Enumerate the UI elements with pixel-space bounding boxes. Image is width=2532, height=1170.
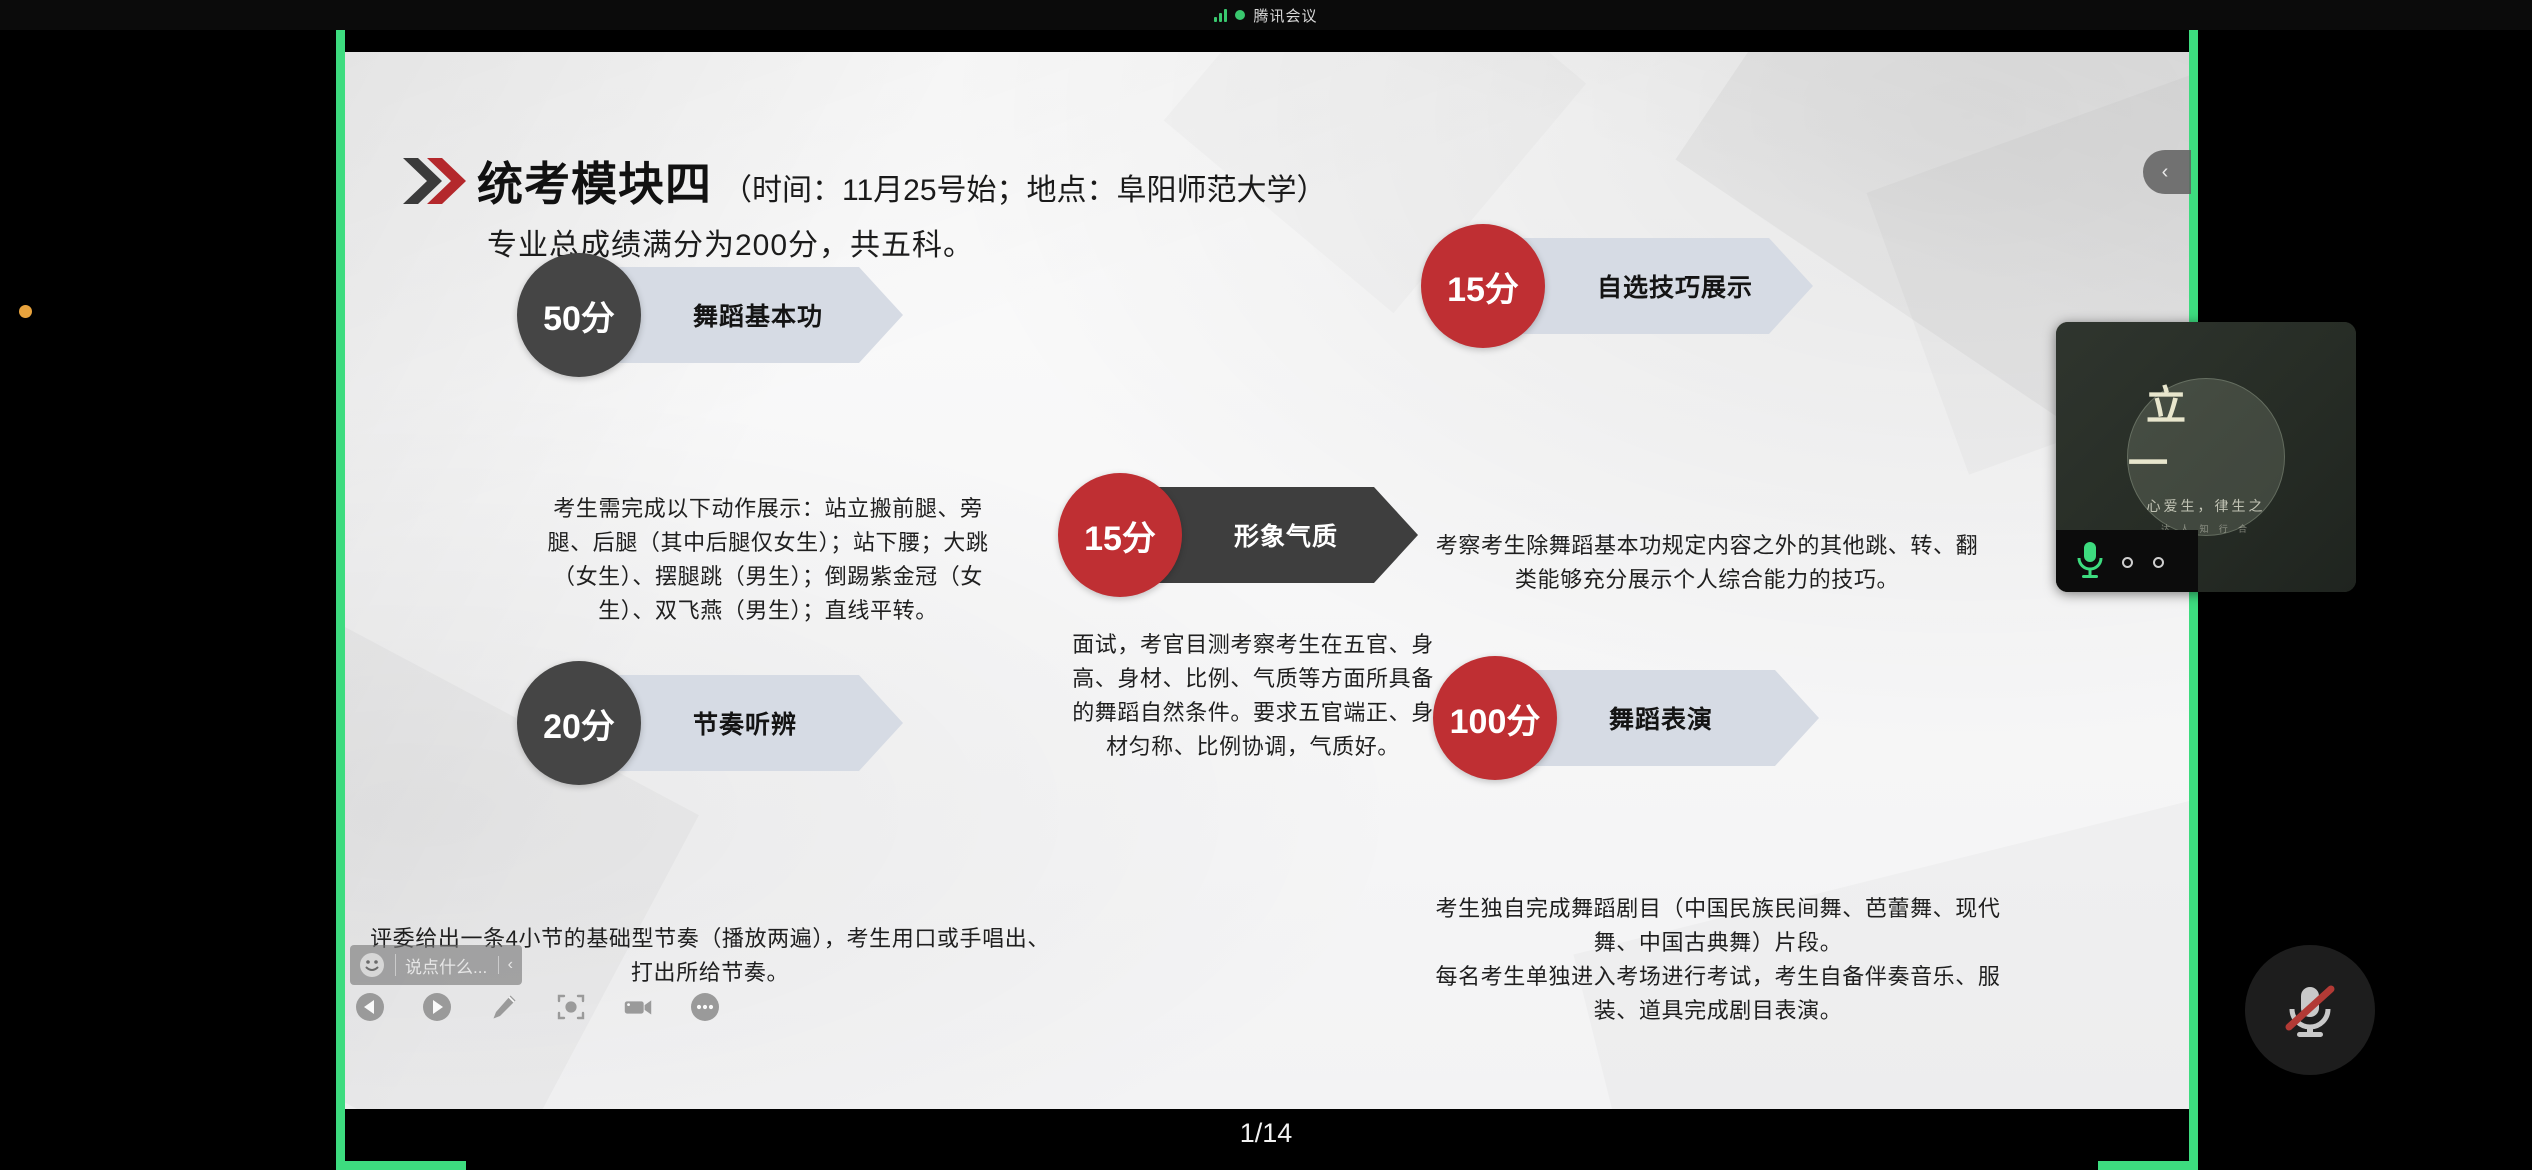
score-circle: 100分 bbox=[1433, 656, 1557, 780]
page-title-detail: （时间：11月25号始；地点：阜阳师范大学） bbox=[722, 165, 1327, 209]
banner-arrow-icon bbox=[1775, 670, 1819, 766]
share-border-bottom-left bbox=[336, 1161, 466, 1170]
score-circle: 15分 bbox=[1421, 224, 1545, 348]
score-description: 考生独自完成舞蹈剧目（中国民族民间舞、芭蕾舞、现代舞、中国古典舞）片段。 每名考… bbox=[1435, 892, 2001, 1028]
banner-arrow-icon bbox=[859, 267, 903, 363]
panel-collapse-button[interactable]: ‹ bbox=[2143, 150, 2191, 194]
shared-slide: 统考模块四 （时间：11月25号始；地点：阜阳师范大学） 专业总成绩满分为200… bbox=[345, 52, 2189, 1109]
circle-outline-icon bbox=[2153, 557, 2164, 568]
circle-outline-icon bbox=[2122, 557, 2133, 568]
chevron-left-icon: ‹ bbox=[2162, 162, 2169, 182]
next-slide-icon[interactable] bbox=[420, 990, 454, 1024]
microphone-muted-icon bbox=[2275, 975, 2345, 1045]
app-name-label: 腾讯会议 bbox=[1253, 5, 1317, 26]
laser-pointer-icon[interactable] bbox=[554, 990, 588, 1024]
microphone-active-icon bbox=[2074, 540, 2106, 580]
green-dot-icon bbox=[1235, 10, 1245, 20]
score-description: 考察考生除舞蹈基本功规定内容之外的其他跳、转、翻类能够充分展示个人综合能力的技巧… bbox=[1427, 529, 1987, 597]
banner-arrow-icon bbox=[859, 675, 903, 771]
divider bbox=[395, 954, 396, 976]
screen-root: 腾讯会议 统考模块四 （时间：11月25号始；地点：阜阳师范大学） 专业总成绩满… bbox=[0, 0, 2532, 1170]
avatar: 立 一 心爱生，律生之 达 人 知 行 合 bbox=[2127, 378, 2285, 536]
video-camera-icon[interactable] bbox=[621, 990, 655, 1024]
double-chevron-icon bbox=[401, 155, 467, 207]
share-border-left bbox=[336, 0, 345, 1170]
share-border-bottom-right bbox=[2098, 1161, 2198, 1170]
previous-slide-icon[interactable] bbox=[353, 990, 387, 1024]
score-circle: 15分 bbox=[1058, 473, 1182, 597]
score-circle: 20分 bbox=[517, 661, 641, 785]
smiley-icon[interactable] bbox=[358, 951, 386, 979]
comment-input-bar[interactable]: 说点什么... ‹ bbox=[350, 945, 522, 985]
status-bar: 腾讯会议 bbox=[0, 0, 2532, 30]
avatar-logo-main: 立 一 bbox=[2128, 373, 2284, 489]
status-dot-icon bbox=[19, 305, 32, 318]
slide-toolbar bbox=[353, 990, 722, 1024]
comment-input-placeholder[interactable]: 说点什么... bbox=[405, 953, 498, 978]
score-circle: 50分 bbox=[517, 253, 641, 377]
score-description: 面试，考官目测考察考生在五官、身高、身材、比例、气质等方面所具备的舞蹈自然条件。… bbox=[1061, 628, 1445, 764]
score-description: 考生需完成以下动作展示：站立搬前腿、旁腿、后腿（其中后腿仅女生）；站下腰；大跳（… bbox=[534, 492, 1002, 628]
more-options-icon[interactable] bbox=[688, 990, 722, 1024]
page-indicator: 1/14 bbox=[0, 1118, 2532, 1149]
chevron-left-icon[interactable]: ‹ bbox=[498, 956, 522, 974]
banner-arrow-icon bbox=[1769, 238, 1813, 334]
participant-video-tile[interactable]: 立 一 心爱生，律生之 达 人 知 行 合 bbox=[2056, 322, 2356, 592]
slide-title-row: 统考模块四 （时间：11月25号始；地点：阜阳师范大学） bbox=[401, 148, 1327, 214]
signal-bars-icon bbox=[1214, 9, 1227, 22]
microphone-mute-button[interactable] bbox=[2245, 945, 2375, 1075]
annotate-pen-icon[interactable] bbox=[487, 990, 521, 1024]
banner-arrow-icon bbox=[1374, 487, 1418, 583]
page-title: 统考模块四 bbox=[477, 148, 712, 214]
avatar-logo-sub: 心爱生，律生之 bbox=[2147, 496, 2266, 516]
